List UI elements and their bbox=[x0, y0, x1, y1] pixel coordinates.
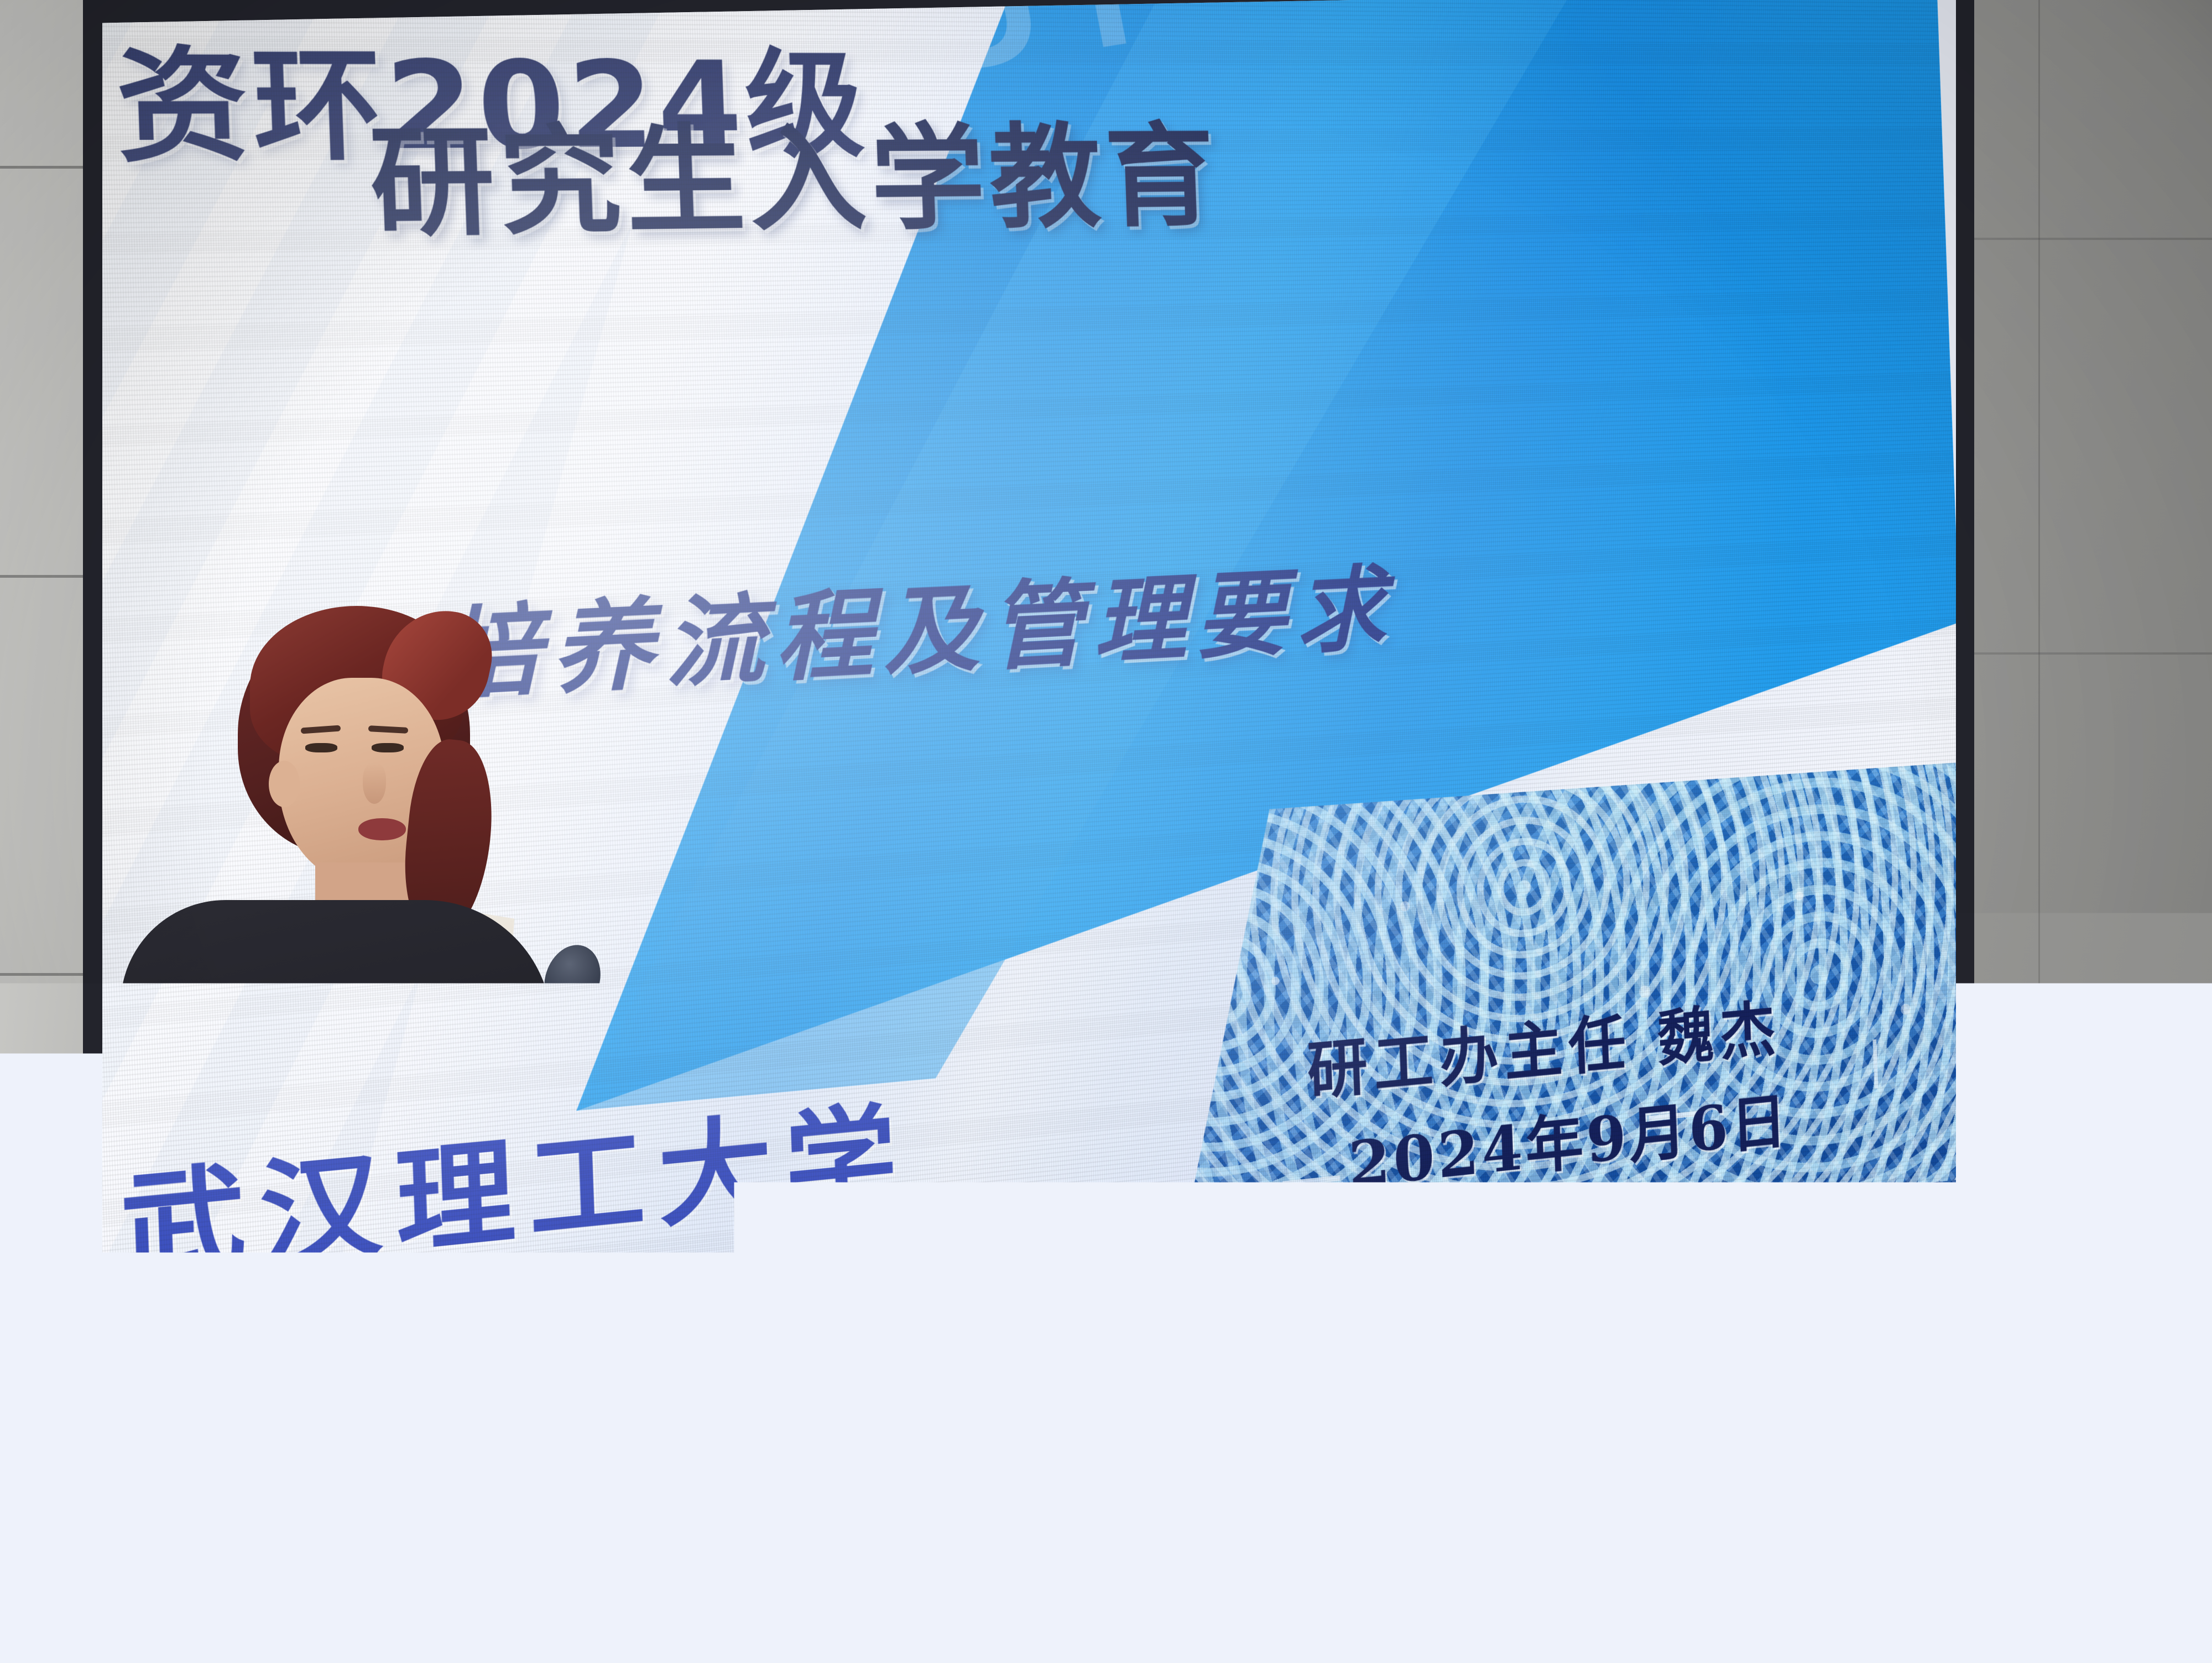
outlet-socket bbox=[2011, 1477, 2020, 1484]
laptop[interactable]: LEGION bbox=[182, 1088, 592, 1254]
outlet-socket bbox=[2023, 1491, 2032, 1498]
speaker-nose bbox=[363, 763, 386, 804]
microphone-head bbox=[535, 938, 609, 1023]
wall-outlet-plate bbox=[2008, 1469, 2038, 1512]
timestamp-overlay: 2024.09.06 15:04 bbox=[894, 1486, 1420, 1561]
speaker-eye bbox=[372, 743, 404, 752]
speaker-mouth bbox=[358, 818, 406, 840]
speaker-ear bbox=[269, 761, 300, 807]
microphone-stem bbox=[582, 997, 642, 1089]
wall-seam-vertical bbox=[2038, 0, 2040, 1663]
outlet-socket bbox=[2023, 1476, 2032, 1482]
microphone-base bbox=[624, 1082, 664, 1098]
photo-stage: WUT WUT WUT WUT G W 资环2024级 研究生入学教育 bbox=[0, 0, 2212, 1663]
speaker-eye bbox=[305, 743, 337, 752]
microphone bbox=[541, 944, 679, 1110]
